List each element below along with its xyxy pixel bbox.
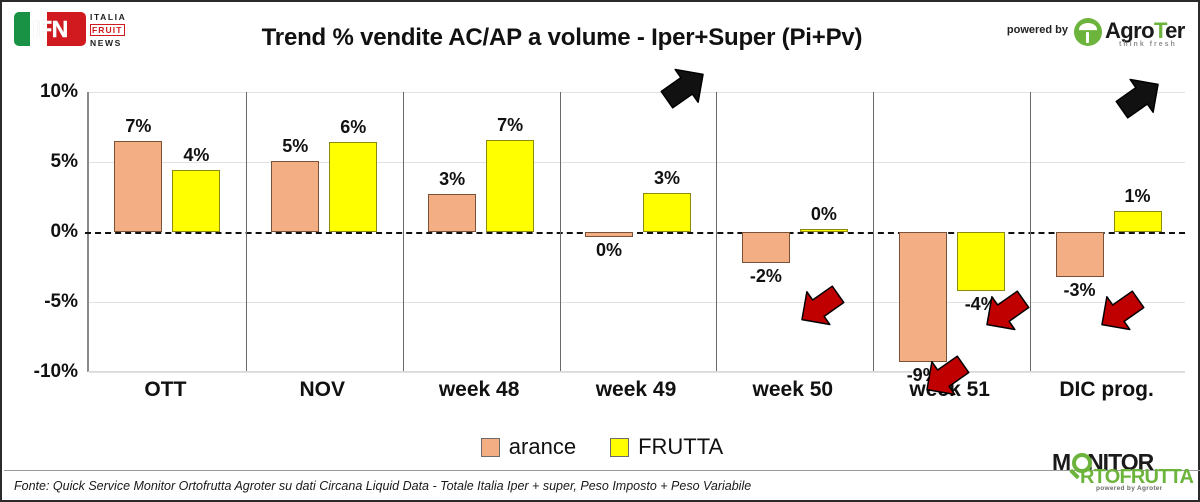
agroter-word-part3: er (1165, 18, 1185, 43)
y-axis-tick: -10% (34, 361, 78, 383)
x-axis-label: week 48 (389, 378, 569, 402)
bar-value-label: 7% (93, 116, 183, 137)
red-arrow-annotation (792, 282, 848, 332)
bar-frutta-week-49[interactable] (643, 193, 691, 232)
legend-swatch (610, 438, 629, 457)
category-separator (246, 92, 247, 371)
bar-frutta-nov[interactable] (329, 142, 377, 232)
gridline (89, 372, 1185, 373)
legend-label: FRUTTA (638, 434, 723, 460)
y-axis-tick: 5% (51, 151, 78, 173)
slide-canvas: IFN ITALIA FRUIT NEWS Trend % vendite AC… (0, 0, 1200, 502)
y-axis-tick: 10% (40, 81, 78, 103)
ifn-wordmark: ITALIA FRUIT NEWS (90, 12, 136, 48)
gridline (89, 162, 1185, 163)
bar-value-label: 3% (407, 169, 497, 190)
x-axis-label: week 49 (546, 378, 726, 402)
red-arrow-annotation (977, 287, 1033, 337)
y-axis: 10%5%0%-5%-10% (10, 82, 82, 372)
bar-value-label: 7% (465, 115, 555, 136)
bar-arance-nov[interactable] (271, 161, 319, 232)
bar-value-label: 3% (622, 168, 712, 189)
red-arrow-annotation (917, 352, 973, 402)
source-note: Fonte: Quick Service Monitor Ortofrutta … (14, 479, 914, 493)
red-arrow-annotation (1092, 287, 1148, 337)
x-axis-label: NOV (232, 378, 412, 402)
zero-baseline (85, 232, 1185, 234)
footer-divider (4, 470, 1200, 471)
bar-arance-dic-prog-[interactable] (1056, 232, 1104, 277)
ifn-word-news: NEWS (90, 38, 136, 48)
category-separator (403, 92, 404, 371)
bar-value-label: 0% (564, 240, 654, 261)
category-separator (873, 92, 874, 371)
x-axis-label: week 50 (703, 378, 883, 402)
bar-frutta-ott[interactable] (172, 170, 220, 232)
bar-frutta-week-48[interactable] (486, 140, 534, 232)
bar-value-label: 4% (151, 145, 241, 166)
category-separator (560, 92, 561, 371)
bar-frutta-week-51[interactable] (957, 232, 1005, 291)
legend-item-frutta[interactable]: FRUTTA (610, 434, 723, 460)
bar-arance-week-49[interactable] (585, 232, 633, 237)
bar-frutta-dic-prog-[interactable] (1114, 211, 1162, 232)
ifn-monogram: IFN (14, 12, 86, 46)
gridline (89, 92, 1185, 93)
agroter-logo: AgroTer think fresh (1074, 14, 1186, 54)
black-arrow-annotation (1112, 72, 1168, 122)
tree-icon (1074, 18, 1102, 46)
chart-area: 10%5%0%-5%-10% 7%4%5%6%3%7%0%3%-2%0%-9%-… (2, 82, 1200, 392)
y-axis-tick: -5% (44, 291, 78, 313)
legend-item-arance[interactable]: arance (481, 434, 576, 460)
chart-legend: aranceFRUTTA (2, 430, 1200, 464)
category-separator (716, 92, 717, 371)
ifn-word-fruit: FRUIT (90, 24, 125, 36)
powered-by-label: powered by (1007, 24, 1068, 36)
legend-swatch (481, 438, 500, 457)
bar-arance-week-48[interactable] (428, 194, 476, 232)
monitor-word-m: M (1052, 449, 1070, 475)
black-arrow-annotation (657, 62, 713, 112)
bar-value-label: 6% (308, 117, 398, 138)
bar-frutta-week-50[interactable] (800, 229, 848, 232)
bar-arance-week-50[interactable] (742, 232, 790, 263)
x-axis-label: OTT (75, 378, 255, 402)
ifn-logo: IFN ITALIA FRUIT NEWS (14, 10, 132, 50)
monitor-powered-by: powered by Agroter (1096, 485, 1163, 492)
ifn-monogram-text: IFN (14, 12, 86, 46)
bar-value-label: 5% (250, 136, 340, 157)
legend-label: arance (509, 434, 576, 460)
agroter-tagline: think fresh (1119, 41, 1177, 48)
page-title: Trend % vendite AC/AP a volume - Iper+Su… (182, 24, 942, 52)
bar-value-label: 0% (779, 204, 869, 225)
agroter-word-part2: T (1154, 18, 1165, 43)
y-axis-tick: 0% (51, 221, 78, 243)
x-axis-label: DIC prog. (1017, 378, 1197, 402)
agroter-word-part1: Agro (1105, 18, 1154, 43)
monitor-ortofrutta-logo: MONITOR RTOFRUTTA powered by Agroter (1052, 445, 1184, 495)
bar-value-label: 1% (1093, 186, 1183, 207)
ifn-word-italia: ITALIA (90, 12, 136, 22)
